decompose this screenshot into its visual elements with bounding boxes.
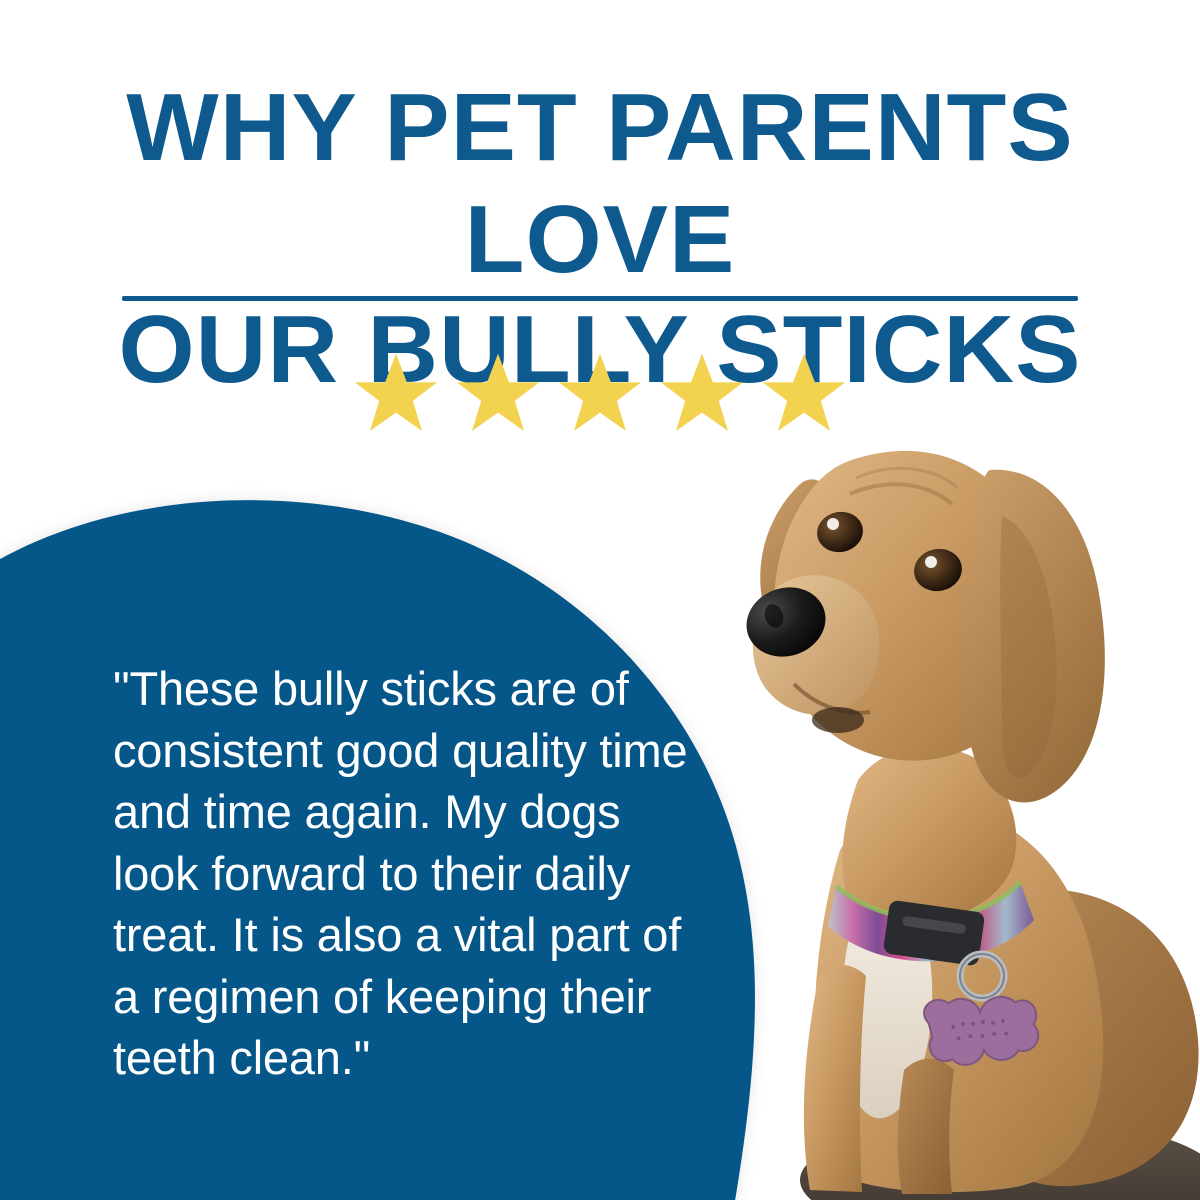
promo-card: WHY PET PARENTS LOVE OUR BULLY STICKS "T… [0,0,1200,1200]
star-icon [660,352,744,432]
star-icon [762,352,846,432]
star-rating [0,352,1200,432]
dog-photo [690,420,1200,1200]
star-icon [354,352,438,432]
star-icon [558,352,642,432]
dog-eye-left-highlight [827,518,839,530]
review-quote: "These bully sticks are of consistent go… [113,658,713,1089]
dog-front-leg-left [804,965,866,1192]
headline-line-1: WHY PET PARENTS LOVE [0,72,1200,296]
dog-lip [812,707,864,733]
dog-front-leg-right [898,1059,954,1194]
title-divider [122,296,1078,301]
star-icon [456,352,540,432]
dog-eye-right-highlight [925,556,937,568]
